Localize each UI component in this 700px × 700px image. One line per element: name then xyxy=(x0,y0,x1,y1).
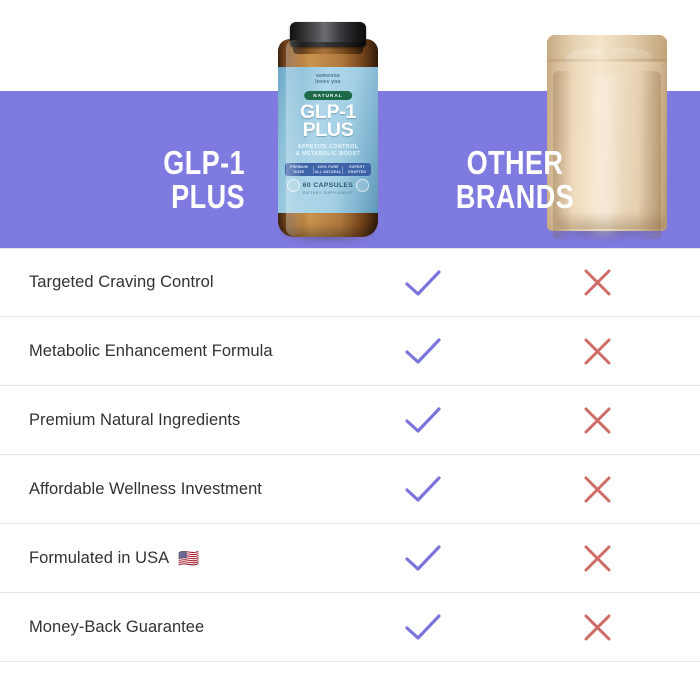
bottle-claim-strip: PREMIUM DOSE 100% PURE ALL NATURAL EXPER… xyxy=(285,163,371,176)
bottle-brand-line2: loves you xyxy=(278,79,378,85)
pouch-bottom-shade xyxy=(557,213,665,229)
bottle-natural-badge: NATURAL xyxy=(304,91,352,100)
other-mark-cell xyxy=(495,613,700,642)
feature-label-cell: Metabolic Enhancement Formula xyxy=(0,342,350,361)
comparison-table: Targeted Craving Control Metabolic Enhan… xyxy=(0,248,700,662)
feature-label-text: Formulated in USA xyxy=(29,549,169,568)
product-mark-cell xyxy=(350,474,495,504)
check-icon xyxy=(404,405,442,435)
table-row-4: Formulated in USA 🇺🇸 xyxy=(0,524,700,593)
cross-icon xyxy=(583,268,612,297)
column-header-other: OTHER BRANDS xyxy=(437,146,593,215)
bottle-claim-2-line2: ALL NATURAL xyxy=(314,170,342,175)
feature-label-text: Metabolic Enhancement Formula xyxy=(29,342,273,361)
column-header-product-line2: PLUS xyxy=(52,180,245,214)
column-header-other-line2: BRANDS xyxy=(437,180,593,214)
pouch-top-seal xyxy=(547,35,667,61)
bottle-brand-name: someone loves you xyxy=(278,73,378,86)
feature-label-text: Money-Back Guarantee xyxy=(29,618,204,637)
bottle-subtitle-line1: APPETITE CONTROL xyxy=(278,144,378,151)
table-row-1: Metabolic Enhancement Formula xyxy=(0,317,700,386)
other-mark-cell xyxy=(495,475,700,504)
feature-label-text: Targeted Craving Control xyxy=(29,273,214,292)
bottle-product-title: GLP-1 PLUS xyxy=(278,103,378,140)
cross-icon xyxy=(583,337,612,366)
usa-flag-icon: 🇺🇸 xyxy=(178,550,199,567)
other-mark-cell xyxy=(495,406,700,435)
feature-label-cell: Formulated in USA 🇺🇸 xyxy=(0,549,350,568)
bottle-cap xyxy=(290,22,366,47)
feature-label-text: Premium Natural Ingredients xyxy=(29,411,240,430)
product-mark-cell xyxy=(350,405,495,435)
feature-label-cell: Money-Back Guarantee xyxy=(0,618,350,637)
glp-1-plus-bottle-image: someone loves you NATURAL GLP-1 PLUS APP… xyxy=(272,22,384,240)
check-icon xyxy=(404,543,442,573)
bottle-claim-2: 100% PURE ALL NATURAL xyxy=(314,165,342,174)
bottle-claim-1-line2: DOSE xyxy=(285,170,313,175)
bottle-subtitle: APPETITE CONTROL & METABOLIC BOOST xyxy=(278,144,378,159)
column-header-product: GLP-1 PLUS xyxy=(52,146,245,215)
feature-label-cell: Premium Natural Ingredients xyxy=(0,411,350,430)
column-header-other-line1: OTHER xyxy=(437,146,593,180)
product-mark-cell xyxy=(350,268,495,298)
bottle-subtitle-line2: & METABOLIC BOOST xyxy=(278,151,378,158)
check-icon xyxy=(404,268,442,298)
product-mark-cell xyxy=(350,336,495,366)
product-mark-cell xyxy=(350,612,495,642)
feature-label-text: Affordable Wellness Investment xyxy=(29,480,262,499)
check-icon xyxy=(404,336,442,366)
feature-label-cell: Targeted Craving Control xyxy=(0,273,350,292)
other-mark-cell xyxy=(495,337,700,366)
other-mark-cell xyxy=(495,544,700,573)
cross-icon xyxy=(583,475,612,504)
bottle-claim-3-line2: CRAFTED xyxy=(343,170,371,175)
bottle-claim-2-line1: 100% PURE xyxy=(314,165,342,170)
bottle-claim-3: EXPERT CRAFTED xyxy=(343,165,371,174)
bottle-label: someone loves you NATURAL GLP-1 PLUS APP… xyxy=(278,67,378,213)
column-header-product-line1: GLP-1 xyxy=(52,146,245,180)
product-mark-cell xyxy=(350,543,495,573)
feature-label-cell: Affordable Wellness Investment xyxy=(0,480,350,499)
bottle-supplement-type: DIETARY SUPPLEMENT xyxy=(278,191,378,195)
other-mark-cell xyxy=(495,268,700,297)
check-icon xyxy=(404,474,442,504)
check-icon xyxy=(404,612,442,642)
bottle-capsule-count: 60 CAPSULES xyxy=(278,182,378,189)
bottle-claim-1: PREMIUM DOSE xyxy=(285,165,313,174)
pouch-seam xyxy=(547,59,667,62)
cross-icon xyxy=(583,544,612,573)
cross-icon xyxy=(583,613,612,642)
bottle-title-line2: PLUS xyxy=(278,121,378,139)
table-row-2: Premium Natural Ingredients xyxy=(0,386,700,455)
table-row-0: Targeted Craving Control xyxy=(0,248,700,317)
cross-icon xyxy=(583,406,612,435)
table-row-3: Affordable Wellness Investment xyxy=(0,455,700,524)
table-row-5: Money-Back Guarantee xyxy=(0,593,700,662)
comparison-table-page: someone loves you NATURAL GLP-1 PLUS APP… xyxy=(0,0,700,700)
